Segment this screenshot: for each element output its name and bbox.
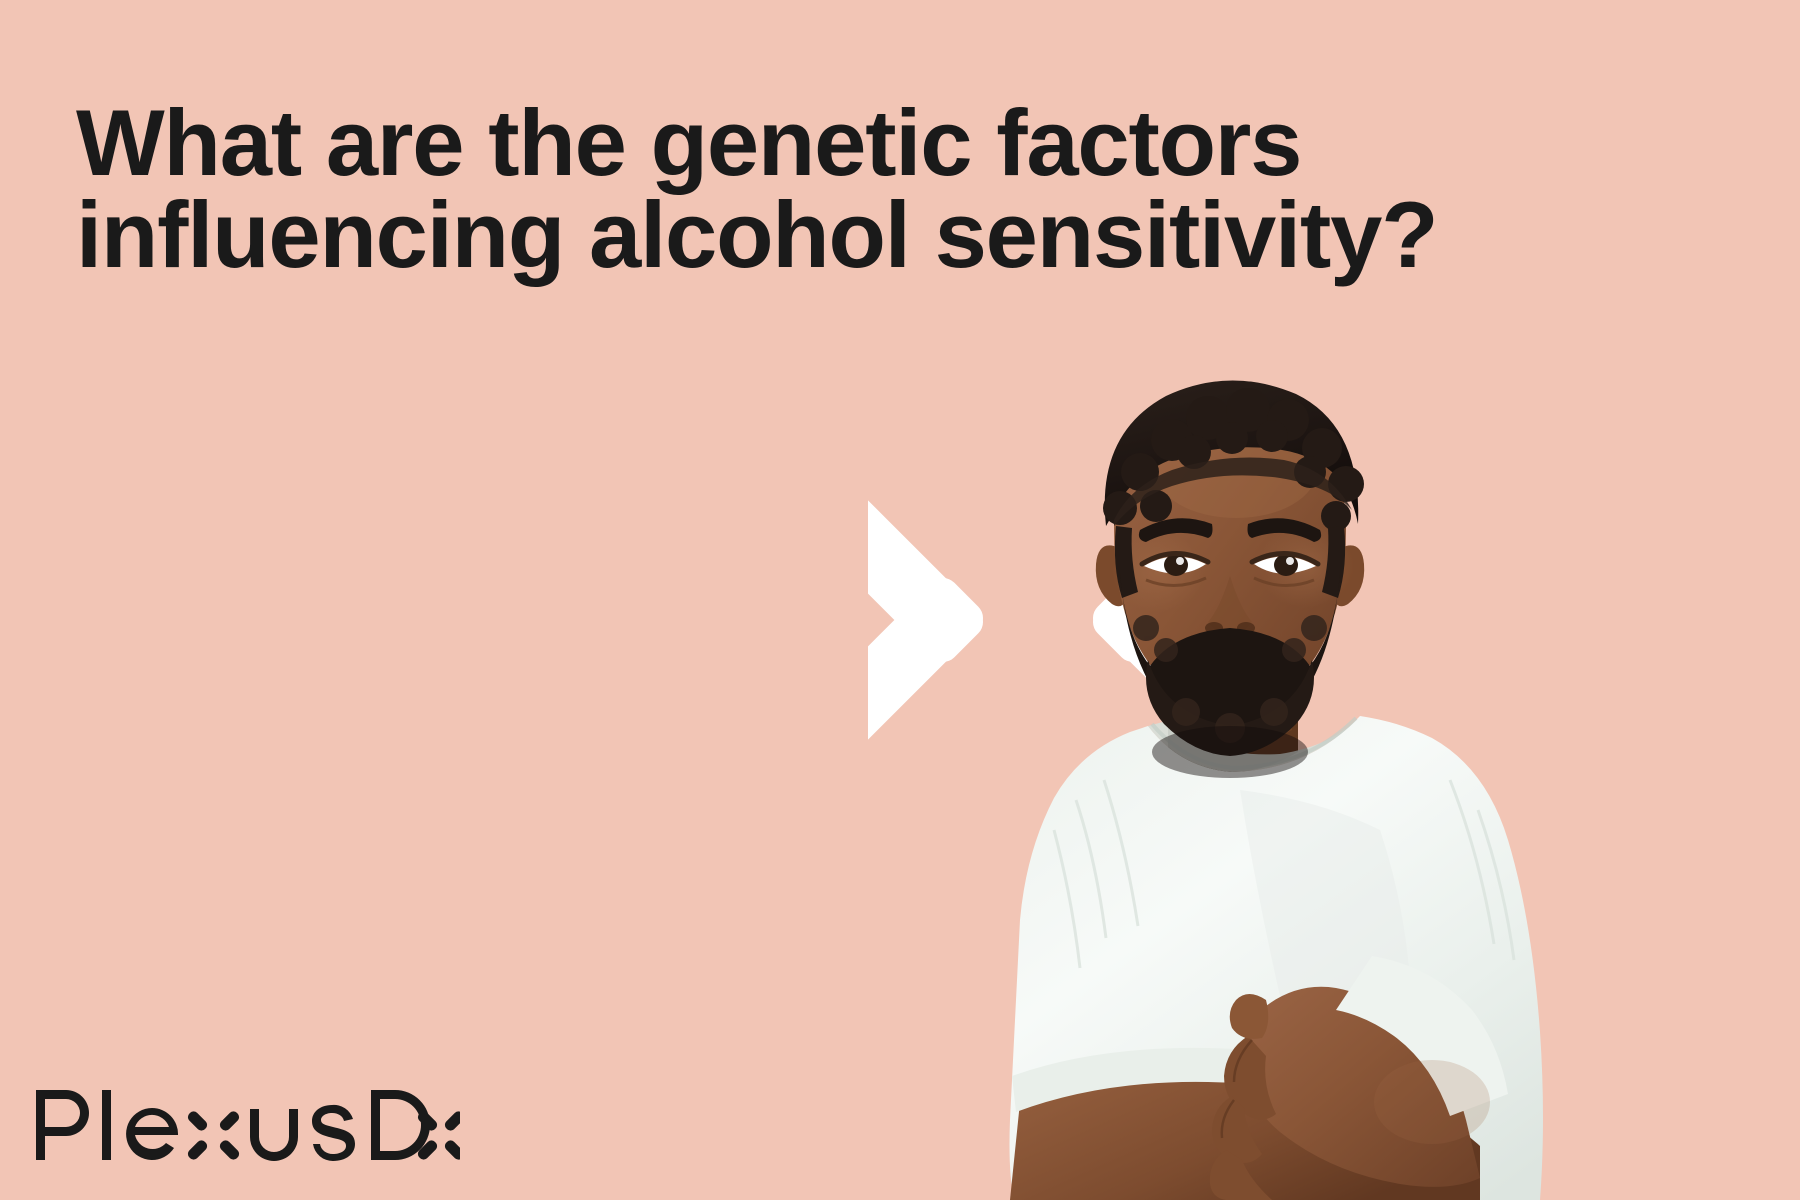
- page-title: What are the genetic factors influencing…: [76, 97, 1716, 281]
- brand-logo-plexusdx: [30, 1082, 460, 1168]
- promo-card-canvas: What are the genetic factors influencing…: [0, 0, 1800, 1200]
- hero-photo-person: [980, 360, 1700, 1200]
